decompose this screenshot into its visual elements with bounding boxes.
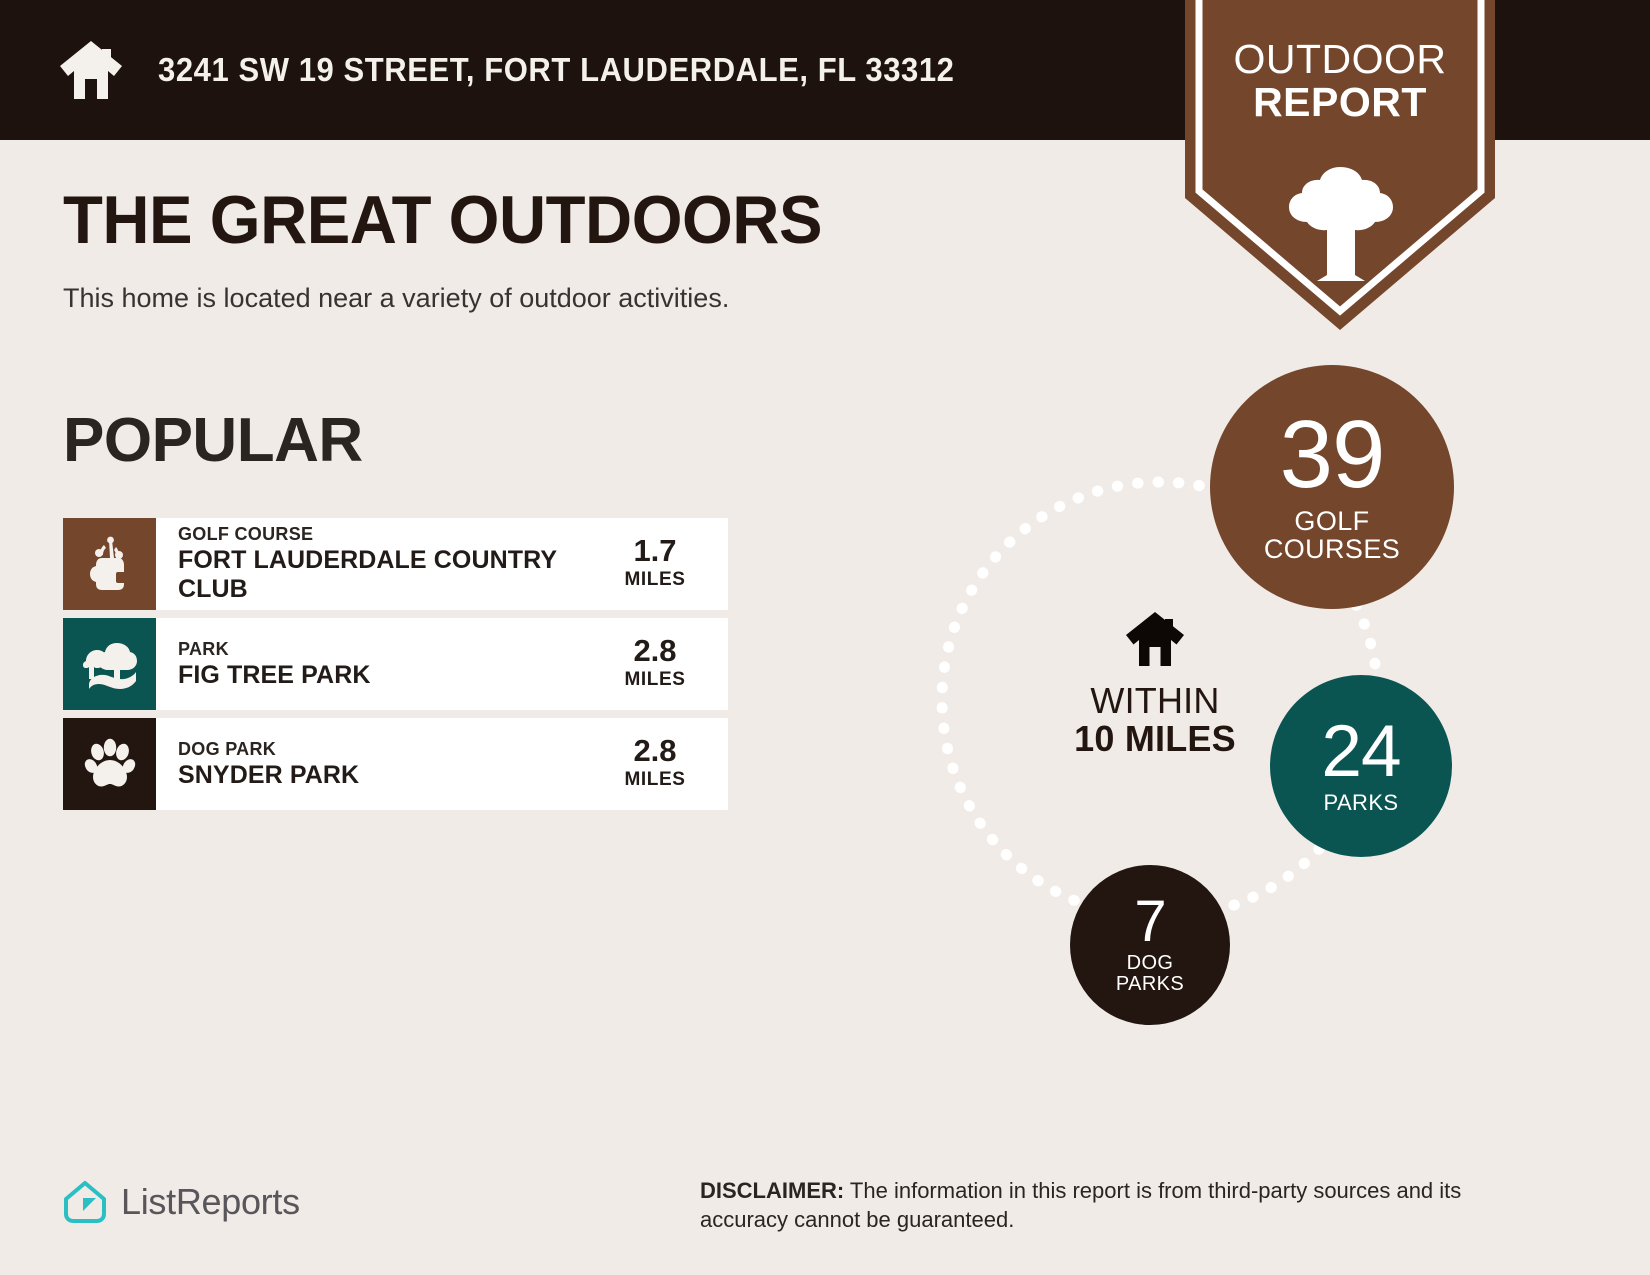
home-icon bbox=[1042, 610, 1268, 668]
disclaimer: DISCLAIMER: The information in this repo… bbox=[700, 1176, 1530, 1234]
page-title: THE GREAT OUTDOORS bbox=[63, 186, 1081, 254]
list-item-category: DOG PARK bbox=[178, 738, 590, 761]
park-trees-icon bbox=[83, 637, 137, 691]
list-item-category: PARK bbox=[178, 638, 590, 661]
stat-label-line1: GOLF bbox=[1294, 506, 1369, 536]
stat-circle-dog-parks: 7 DOG PARKS bbox=[1070, 865, 1230, 1025]
stat-value: 24 bbox=[1321, 718, 1400, 785]
distance-unit: MILES bbox=[624, 568, 685, 593]
list-item[interactable]: DOG PARK SNYDER PARK 2.8 MILES bbox=[63, 718, 728, 810]
diagram-center-label: WITHIN 10 MILES bbox=[1042, 610, 1268, 758]
paw-print-icon bbox=[84, 738, 136, 790]
page-subtitle: This home is located near a variety of o… bbox=[63, 282, 1123, 314]
popular-list: GOLF COURSE FORT LAUDERDALE COUNTRY CLUB… bbox=[63, 518, 728, 810]
distance-value: 1.7 bbox=[633, 535, 676, 568]
stat-label-line1: DOG bbox=[1127, 952, 1174, 974]
golf-course-text: GOLF COURSE FORT LAUDERDALE COUNTRY CLUB bbox=[156, 518, 596, 610]
listreports-logo-text: ListReports bbox=[121, 1184, 300, 1220]
listreports-logo[interactable]: ListReports bbox=[63, 1180, 300, 1224]
stat-label-line2: COURSES bbox=[1264, 534, 1400, 564]
center-label-line2: 10 MILES bbox=[1042, 720, 1268, 758]
outdoor-report-badge: OUTDOOR REPORT bbox=[1185, 0, 1495, 330]
park-text: PARK FIG TREE PARK bbox=[156, 618, 596, 710]
distance-value: 2.8 bbox=[633, 735, 676, 768]
stat-value: 7 bbox=[1134, 895, 1165, 948]
dog-park-icon-box bbox=[63, 718, 156, 810]
golf-bag-icon bbox=[86, 536, 134, 592]
stat-circle-parks: 24 PARKS bbox=[1270, 675, 1452, 857]
within-10-miles-diagram: 39 GOLF COURSES 24 PARKS 7 DOG PARKS WIT… bbox=[830, 355, 1510, 1055]
list-item-distance: 2.8 MILES bbox=[596, 618, 728, 710]
listreports-house-icon bbox=[63, 1180, 107, 1224]
stat-circle-golf-courses: 39 GOLF COURSES bbox=[1210, 365, 1454, 609]
distance-value: 2.8 bbox=[633, 635, 676, 668]
stat-value: 39 bbox=[1280, 411, 1385, 499]
property-address: 3241 SW 19 STREET, FORT LAUDERDALE, FL 3… bbox=[158, 51, 955, 89]
center-label-line1: WITHIN bbox=[1042, 682, 1268, 720]
home-icon bbox=[58, 39, 124, 101]
stat-label: GOLF COURSES bbox=[1264, 507, 1400, 564]
dog-park-text: DOG PARK SNYDER PARK bbox=[156, 718, 596, 810]
stat-label: DOG PARKS bbox=[1116, 953, 1184, 995]
list-item-name: SNYDER PARK bbox=[178, 761, 590, 791]
list-item-name: FIG TREE PARK bbox=[178, 661, 590, 691]
stat-label: PARKS bbox=[1324, 791, 1399, 814]
title-block: THE GREAT OUTDOORS This home is located … bbox=[63, 186, 1123, 314]
list-item[interactable]: GOLF COURSE FORT LAUDERDALE COUNTRY CLUB… bbox=[63, 518, 728, 610]
golf-course-icon-box bbox=[63, 518, 156, 610]
popular-heading: POPULAR bbox=[63, 410, 363, 472]
header-content: 3241 SW 19 STREET, FORT LAUDERDALE, FL 3… bbox=[58, 0, 1005, 140]
distance-unit: MILES bbox=[624, 768, 685, 793]
stat-label-line2: PARKS bbox=[1116, 973, 1184, 995]
list-item-category: GOLF COURSE bbox=[178, 523, 590, 546]
list-item-distance: 1.7 MILES bbox=[596, 518, 728, 610]
list-item-name: FORT LAUDERDALE COUNTRY CLUB bbox=[178, 546, 590, 605]
park-icon-box bbox=[63, 618, 156, 710]
disclaimer-label: DISCLAIMER: bbox=[700, 1178, 844, 1203]
distance-unit: MILES bbox=[624, 668, 685, 693]
list-item[interactable]: PARK FIG TREE PARK 2.8 MILES bbox=[63, 618, 728, 710]
list-item-distance: 2.8 MILES bbox=[596, 718, 728, 810]
